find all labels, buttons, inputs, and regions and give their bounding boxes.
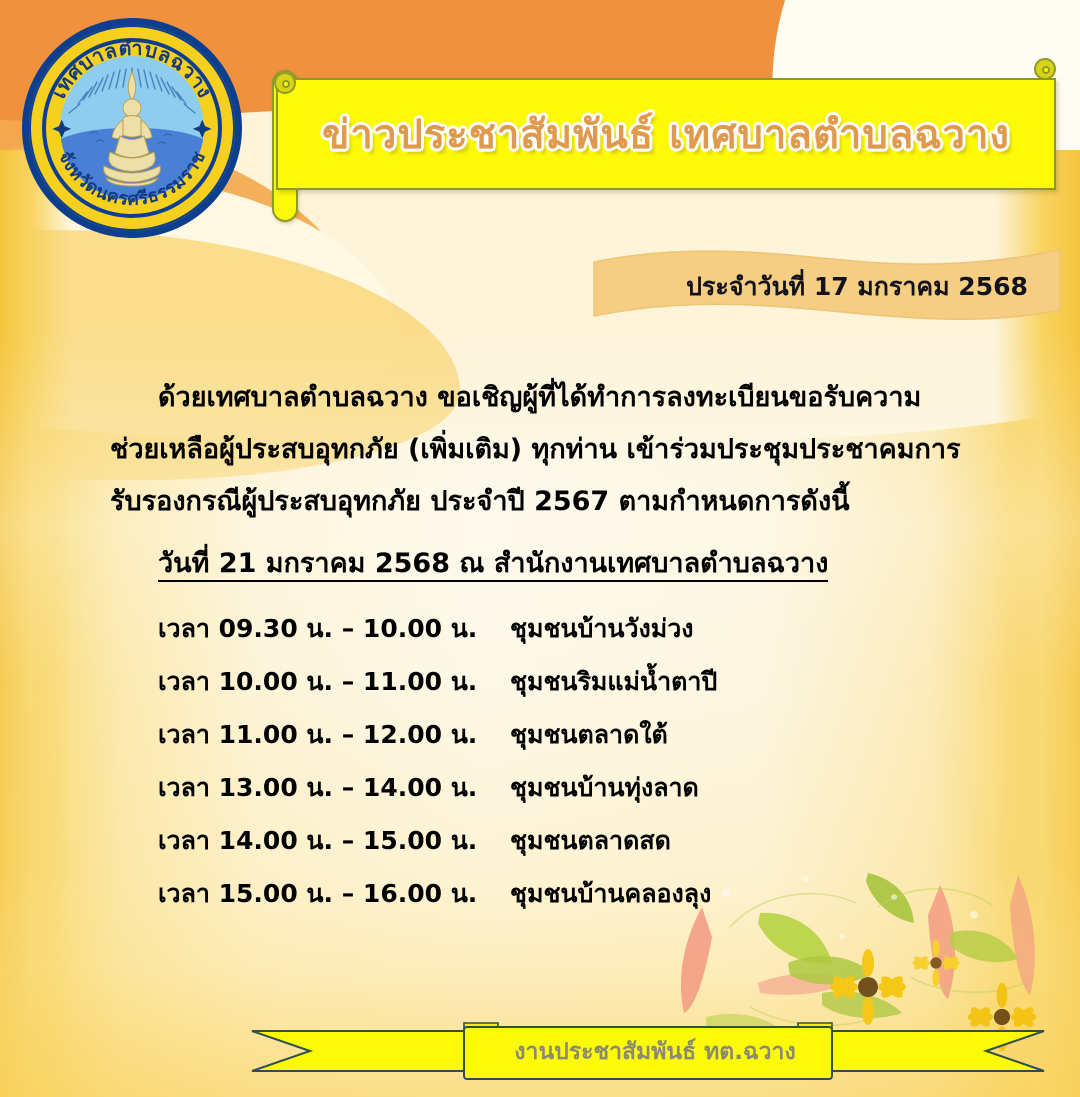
schedule-place: ชุมชนตลาดใต้ [510, 715, 668, 755]
schedule-heading-text: วันที่ 21 มกราคม 2568 ณ สำนักงานเทศบาลตำ… [158, 548, 828, 582]
leaf-shape [758, 913, 832, 964]
municipality-seal-logo: เทศบาลตำบลฉวาง จังหวัดนครศรีธรรมราช [22, 18, 242, 238]
petal-shape [1010, 875, 1035, 995]
schedule-time: เวลา 09.30 น. – 10.00 น. [158, 609, 510, 649]
seal-top-text: เทศบาลตำบลฉวาง [47, 37, 217, 102]
petal-shape [681, 907, 712, 1013]
list-item: เวลา 14.00 น. – 15.00 น. ชุมชนตลาดสด [158, 814, 970, 867]
leaf-shape [950, 931, 1018, 963]
schedule-place: ชุมชนบ้านทุ่งลาด [510, 768, 699, 808]
seal-bottom-text: จังหวัดนครศรีธรรมราช [54, 148, 210, 210]
schedule-time: เวลา 11.00 น. – 12.00 น. [158, 715, 510, 755]
footer-credit: งานประชาสัมพันธ์ ทต.ฉวาง [248, 1009, 1048, 1083]
scroll-curl-inner-right [1042, 66, 1050, 74]
poster-canvas: เทศบาลตำบลฉวาง จังหวัดนครศรีธรรมราช ข่าว… [0, 0, 1080, 1097]
list-item: เวลา 10.00 น. – 11.00 น. ชุมชนริมแม่น้ำต… [158, 655, 970, 708]
schedule-place: ชุมชนริมแม่น้ำตาปี [510, 662, 717, 702]
list-item: เวลา 13.00 น. – 14.00 น. ชุมชนบ้านทุ่งลา… [158, 761, 970, 814]
schedule-place: ชุมชนบ้านวังม่วง [510, 609, 693, 649]
schedule-time: เวลา 13.00 น. – 14.00 น. [158, 768, 510, 808]
announcement-body: ด้วยเทศบาลตำบลฉวาง ขอเชิญผู้ที่ได้ทำการล… [0, 372, 1080, 920]
seal-star-icon [52, 120, 211, 139]
announcement-paragraph: ด้วยเทศบาลตำบลฉวาง ขอเชิญผู้ที่ได้ทำการล… [110, 372, 970, 528]
schedule-time: เวลา 14.00 น. – 15.00 น. [158, 821, 510, 861]
page-title: ข่าวประชาสัมพันธ์ เทศบาลตำบลฉวาง [276, 78, 1056, 190]
schedule-heading: วันที่ 21 มกราคม 2568 ณ สำนักงานเทศบาลตำ… [110, 542, 970, 586]
seal-legend-text: เทศบาลตำบลฉวาง จังหวัดนครศรีธรรมราช [29, 25, 235, 231]
svg-text:จังหวัดนครศรีธรรมราช: จังหวัดนครศรีธรรมราช [54, 148, 210, 210]
schedule-place: ชุมชนตลาดสด [510, 821, 671, 861]
list-item: เวลา 11.00 น. – 12.00 น. ชุมชนตลาดใต้ [158, 708, 970, 761]
svg-text:เทศบาลตำบลฉวาง: เทศบาลตำบลฉวาง [47, 37, 217, 102]
publication-date: ประจำวันที่ 17 มกราคม 2568 [592, 248, 1062, 326]
scroll-curl-top-right-icon [1034, 58, 1056, 80]
leaf-shape [866, 873, 914, 923]
schedule-time: เวลา 10.00 น. – 11.00 น. [158, 662, 510, 702]
schedule-time: เวลา 15.00 น. – 16.00 น. [158, 874, 510, 914]
list-item: เวลา 09.30 น. – 10.00 น. ชุมชนบ้านวังม่ว… [158, 602, 970, 655]
